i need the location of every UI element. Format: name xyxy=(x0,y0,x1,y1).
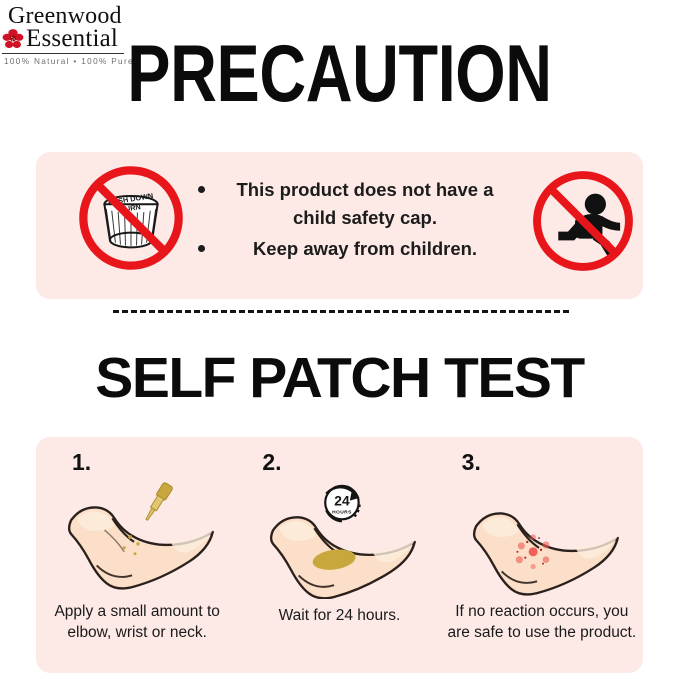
precaution-bullet-2-text: Keep away from children. xyxy=(196,235,514,263)
step-3-number: 3. xyxy=(462,449,481,476)
patch-test-step-3: 3. xyxy=(441,437,643,673)
precaution-heading: PRECAUTION xyxy=(68,34,611,115)
bullet-dot-icon xyxy=(198,186,205,193)
flower-icon xyxy=(2,28,24,50)
bullet-dot-icon xyxy=(198,245,205,252)
patch-test-steps: 1. Apply a small amount to elbo xyxy=(36,437,643,673)
no-children-icon xyxy=(530,168,636,274)
precaution-bullet-1: This product does not have a child safet… xyxy=(196,176,514,232)
section-divider xyxy=(113,310,569,313)
clock-value: 24 xyxy=(335,494,351,509)
step-2-number: 2. xyxy=(262,449,281,476)
step-3-caption: If no reaction occurs, you are safe to u… xyxy=(447,601,637,643)
elbow-with-24-hours-clock-icon: 24 HOURS xyxy=(255,479,423,599)
precaution-bullet-list: This product does not have a child safet… xyxy=(196,176,514,263)
step-2-caption: Wait for 24 hours. xyxy=(244,605,434,626)
elbow-with-skin-reaction-icon xyxy=(458,481,626,601)
no-child-safety-cap-icon: PUSH DOWN TURN xyxy=(76,163,186,273)
clock-unit: HOURS xyxy=(333,509,353,515)
elbow-with-dropper-icon xyxy=(53,475,221,595)
step-1-number: 1. xyxy=(72,449,91,476)
patch-test-heading: SELF PATCH TEST xyxy=(0,348,679,408)
precaution-bullet-2: Keep away from children. xyxy=(196,235,514,263)
step-1-caption: Apply a small amount to elbow, wrist or … xyxy=(42,601,232,643)
patch-test-step-2: 2. 24 HOURS Wait for 24 hours. xyxy=(238,437,440,673)
precaution-bullet-1-text: This product does not have a child safet… xyxy=(196,176,514,232)
patch-test-step-1: 1. Apply a small amount to elbo xyxy=(36,437,238,673)
